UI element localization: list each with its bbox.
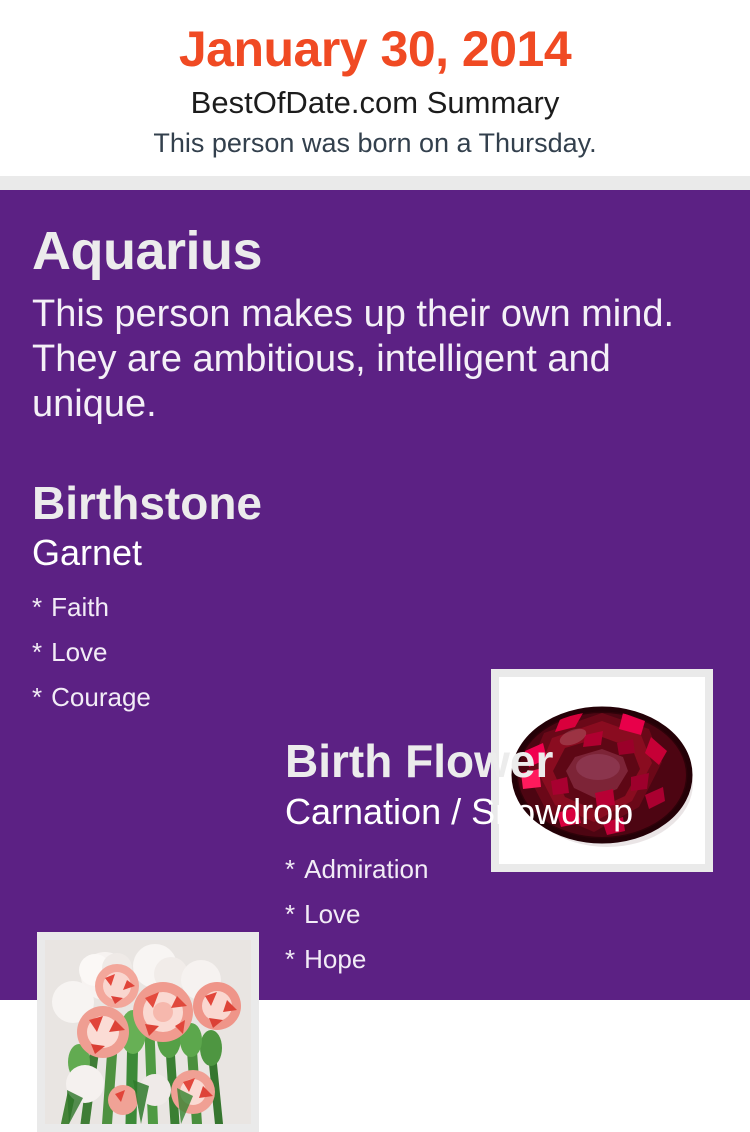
birthstone-trait-list: *Faith *Love *Courage (32, 585, 452, 720)
list-item-label: Faith (51, 592, 109, 622)
list-item-label: Courage (51, 682, 151, 712)
summary-page: January 30, 2014 BestOfDate.com Summary … (0, 0, 750, 1000)
carnation-bouquet-icon (45, 940, 251, 1124)
bullet-star-icon: * (285, 892, 295, 937)
list-item: *Hope (285, 937, 725, 982)
list-item: *Faith (32, 585, 452, 630)
bullet-star-icon: * (32, 585, 42, 630)
birth-flower-trait-list: *Admiration *Love *Hope (285, 847, 725, 982)
list-item: *Love (32, 630, 452, 675)
list-item: *Courage (32, 675, 452, 720)
bullet-star-icon: * (32, 675, 42, 720)
bullet-star-icon: * (285, 847, 295, 892)
page-title-date: January 30, 2014 (0, 20, 750, 78)
list-item-label: Love (51, 637, 107, 667)
list-item-label: Admiration (304, 854, 428, 884)
list-item: *Admiration (285, 847, 725, 892)
details-panel: Aquarius This person makes up their own … (0, 190, 750, 1000)
birth-flower-image (45, 940, 251, 1124)
list-item-label: Love (304, 899, 360, 929)
birth-flower-name: Carnation / Snowdrop (285, 791, 633, 833)
site-summary-label: BestOfDate.com Summary (0, 84, 750, 122)
zodiac-sign-heading: Aquarius (32, 222, 262, 280)
bullet-star-icon: * (32, 630, 42, 675)
list-item-label: Hope (304, 944, 366, 974)
birthstone-heading: Birthstone (32, 477, 262, 529)
birth-flower-image-frame (37, 932, 259, 1132)
zodiac-description: This person makes up their own mind. The… (32, 292, 682, 427)
birthstone-name: Garnet (32, 532, 142, 574)
list-item: *Love (285, 892, 725, 937)
birth-flower-heading: Birth Flower (285, 735, 553, 787)
bullet-star-icon: * (285, 937, 295, 982)
header-divider (0, 176, 750, 190)
weekday-note: This person was born on a Thursday. (0, 126, 750, 160)
page-header: January 30, 2014 BestOfDate.com Summary … (0, 0, 750, 176)
